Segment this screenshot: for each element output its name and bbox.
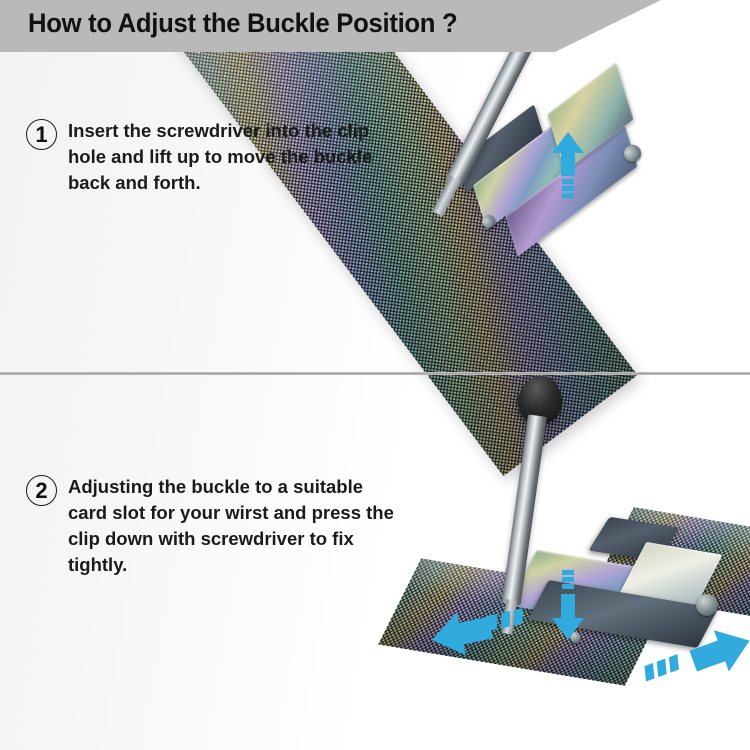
- clasp-pivot-pin: [696, 594, 718, 616]
- step-2-number: 2: [26, 475, 57, 506]
- press-down-arrow: [549, 570, 587, 640]
- slide-left-arrow: [428, 595, 538, 655]
- lift-up-arrow: [548, 132, 588, 200]
- step-1-text: Insert the screwdriver into the clip hol…: [68, 118, 398, 196]
- page-title: How to Adjust the Buckle Position ?: [28, 8, 457, 39]
- step-2-text: Adjusting the buckle to a suitable card …: [68, 474, 398, 578]
- step-1: 1 Insert the screwdriver into the clip h…: [26, 118, 398, 196]
- step-2: 2 Adjusting the buckle to a suitable car…: [26, 474, 398, 578]
- panel-divider: [0, 372, 750, 375]
- slide-right-arrow: [650, 628, 750, 690]
- step-1-number: 1: [26, 119, 57, 150]
- infographic-page: How to Adjust the Buckle Position ? 1 In…: [0, 0, 750, 750]
